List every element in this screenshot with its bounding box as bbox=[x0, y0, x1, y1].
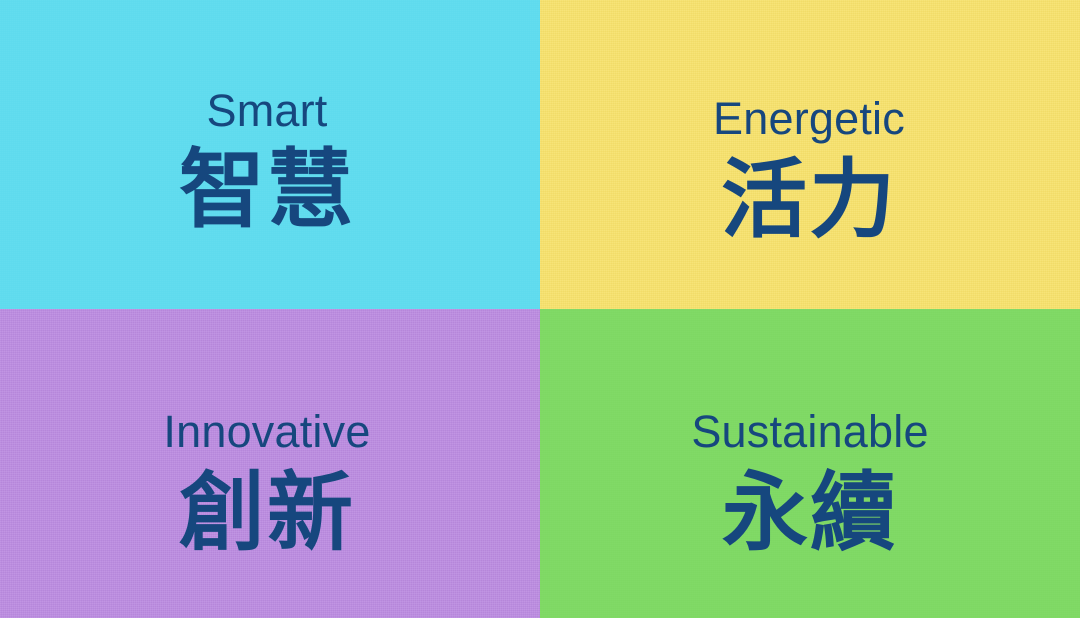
panel-innovative-english-label: Innovative bbox=[0, 409, 537, 454]
panel-innovative: Innovative 創新 bbox=[0, 309, 540, 618]
panel-sustainable: Sustainable 永續 bbox=[540, 309, 1080, 618]
panel-energetic-english-label: Energetic bbox=[540, 96, 1079, 141]
panel-innovative-content: Innovative 創新 bbox=[0, 309, 540, 556]
panel-energetic-content: Energetic 活力 bbox=[540, 0, 1080, 243]
panel-sustainable-chinese-label: 永續 bbox=[540, 470, 1080, 556]
panel-energetic: Energetic 活力 bbox=[540, 0, 1080, 309]
panel-sustainable-content: Sustainable 永續 bbox=[540, 309, 1080, 556]
panel-innovative-chinese-label: 創新 bbox=[0, 470, 537, 556]
panel-energetic-chinese-label: 活力 bbox=[540, 157, 1079, 243]
panel-sustainable-english-label: Sustainable bbox=[540, 409, 1080, 454]
panel-smart-english-label: Smart bbox=[0, 88, 537, 133]
panel-smart-content: Smart 智慧 bbox=[0, 0, 540, 233]
panel-smart: Smart 智慧 bbox=[0, 0, 540, 309]
panel-smart-chinese-label: 智慧 bbox=[0, 147, 537, 233]
brand-values-grid: Smart 智慧 Energetic 活力 Innovative 創新 Sust… bbox=[0, 0, 1080, 618]
